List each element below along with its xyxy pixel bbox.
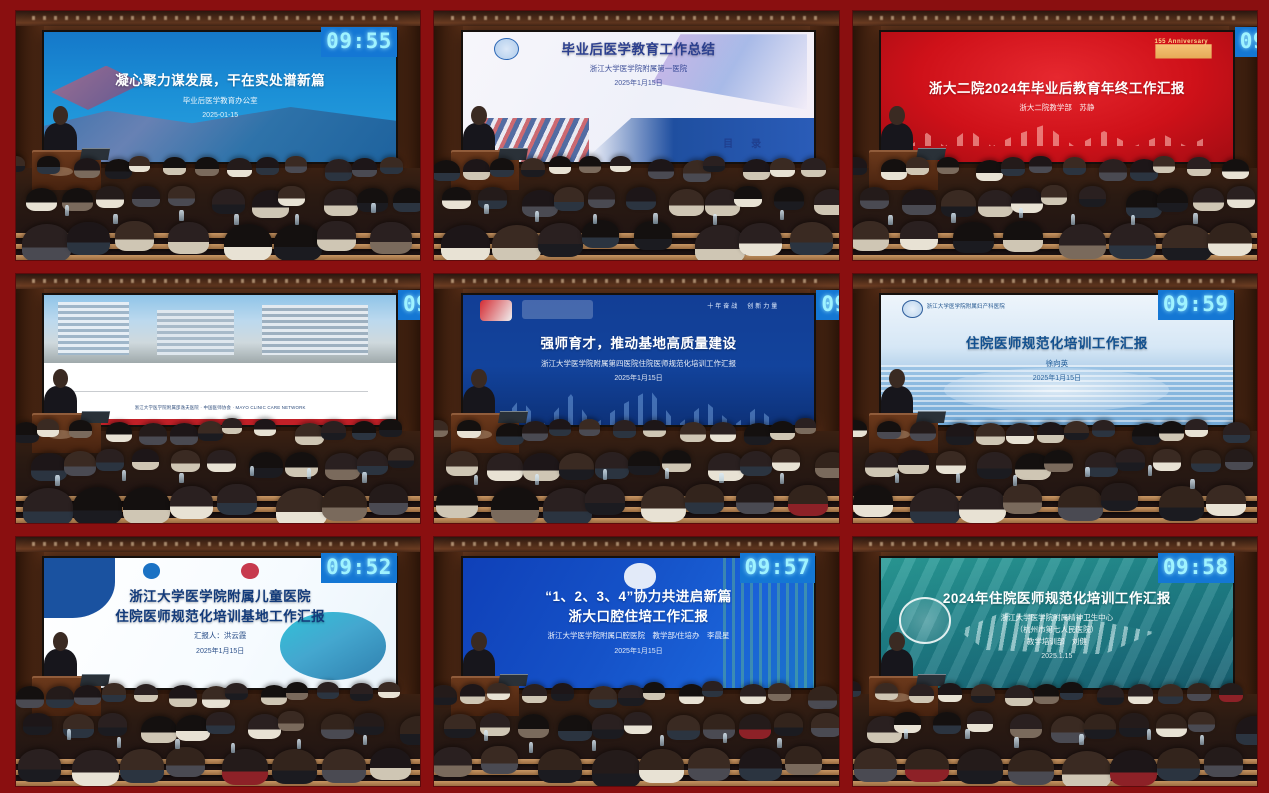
slide-anniversary-text: 155 Anniversary — [1155, 39, 1209, 45]
audience-member — [321, 421, 346, 440]
audience-member — [46, 686, 74, 708]
water-bottle — [719, 473, 723, 483]
audience-member — [436, 485, 478, 518]
water-bottle — [231, 743, 235, 753]
audience-member — [558, 715, 592, 741]
audience-member — [1011, 188, 1043, 213]
audience-member — [69, 420, 92, 438]
audience-member — [680, 422, 707, 442]
audience-member — [1008, 750, 1054, 786]
audience-member — [37, 419, 59, 436]
water-bottle — [1131, 215, 1135, 225]
audience-member — [909, 684, 934, 703]
audience-member — [941, 190, 977, 217]
audience-member — [460, 684, 485, 703]
audience-member — [1158, 684, 1183, 703]
audience-member — [1159, 421, 1184, 441]
audience-member — [378, 682, 399, 698]
audience-member — [380, 157, 403, 175]
water-bottle — [175, 739, 179, 749]
audience-member — [357, 451, 389, 475]
timestamp-badge: 09 — [816, 290, 839, 320]
audience-member — [225, 683, 248, 701]
audience-member — [1079, 186, 1106, 207]
audience-member — [634, 221, 672, 250]
audience-member — [434, 420, 447, 437]
audience-member — [457, 420, 480, 438]
audience-member — [37, 156, 60, 173]
audience-member — [317, 682, 339, 699]
audience-member — [898, 450, 928, 473]
water-bottle — [956, 473, 960, 483]
water-bottle — [603, 469, 607, 479]
audience-member — [937, 157, 960, 174]
audience-member — [1003, 484, 1042, 514]
audience-member — [217, 484, 257, 515]
audience-member — [1187, 157, 1211, 175]
audience-member — [1185, 419, 1208, 436]
audience-member — [1227, 186, 1255, 208]
audience-member — [549, 419, 571, 436]
audience-member — [768, 683, 791, 701]
audience-member — [695, 225, 746, 260]
audience-member — [1003, 221, 1043, 252]
audience-member — [434, 685, 456, 705]
audience-member — [1059, 224, 1105, 260]
water-bottle — [113, 214, 117, 224]
water-bottle — [593, 214, 597, 224]
audience-member — [708, 453, 744, 481]
audience-member — [933, 712, 961, 734]
water-bottle — [777, 738, 781, 748]
audience-member — [902, 189, 936, 215]
audience-member — [977, 452, 1012, 479]
audience-member — [1206, 485, 1246, 516]
audience-member — [770, 158, 795, 177]
slide-title: 毕业后医学教育工作总结 — [562, 42, 716, 58]
audience-member — [688, 748, 730, 780]
audience-member — [23, 713, 52, 735]
water-bottle — [484, 730, 488, 740]
slide-subtitle-2: （杭州市第七人民医院） — [1016, 625, 1099, 635]
audience-member — [710, 422, 736, 442]
audience-member — [272, 749, 317, 783]
audience-member — [815, 452, 838, 478]
audience-member — [628, 451, 660, 475]
water-bottle — [250, 466, 254, 476]
water-bottle — [535, 474, 539, 484]
timestamp-badge: 09 — [1235, 27, 1258, 57]
audience-member — [446, 451, 479, 476]
audience-member — [976, 160, 1004, 182]
water-bottle — [179, 473, 183, 483]
audience-member — [788, 485, 828, 516]
audience-member — [957, 749, 1002, 784]
water-bottle — [592, 740, 596, 750]
video-feed-tile[interactable]: 毕业后医学教育工作总结浙江大学医学院附属第一医院2025年1月15日目 录 — [433, 10, 839, 261]
audience-member — [669, 189, 704, 216]
audience-member — [774, 713, 804, 736]
audience-member — [169, 685, 196, 706]
audience-member — [1064, 421, 1089, 440]
audience-member — [487, 453, 523, 481]
audience-member — [1058, 486, 1103, 521]
audience-member — [496, 423, 525, 445]
audience-member — [1191, 450, 1221, 473]
projection-slide: 2024年住院医师规范化培训工作汇报郑雪咏浙江大学医学院附属邵逸夫医院 · 中国… — [44, 295, 396, 425]
audience-member — [877, 421, 901, 440]
audience-member — [1062, 751, 1112, 786]
water-bottle — [234, 214, 238, 224]
audience-member — [278, 186, 305, 207]
audience-member — [16, 686, 44, 708]
audience-member — [739, 748, 782, 781]
slide-date: 2025年1月15日 — [1033, 374, 1081, 384]
projection-slide: 浙大二院2024年毕业后教育年终工作汇报浙大二院教学部 苏静155 Annive… — [881, 32, 1233, 162]
water-bottle — [474, 475, 478, 485]
audience-member — [585, 484, 625, 515]
audience-member — [618, 685, 645, 706]
audience-member — [322, 749, 366, 783]
audience-member — [521, 158, 545, 177]
desk-row — [853, 781, 1257, 786]
slide-subtitle: 徐向英 — [1046, 359, 1069, 369]
audience-member — [785, 746, 822, 775]
audience-member — [967, 711, 993, 731]
slide-title-line2: 浙大口腔住培工作汇报 — [569, 609, 709, 625]
audience-member — [434, 747, 472, 777]
water-bottle — [529, 742, 533, 752]
water-bottle — [55, 475, 59, 485]
audience-member — [685, 484, 724, 514]
audience-member — [115, 221, 154, 251]
audience-member — [1188, 712, 1215, 733]
podium-laptop — [498, 411, 528, 423]
audience-member — [538, 749, 582, 783]
audience-member — [734, 186, 762, 207]
audience-member — [481, 746, 517, 774]
slide-partner-logos: 浙江大学医学院附属邵逸夫医院 · 中国医师协会 · MAYO CLINIC CA… — [72, 405, 368, 411]
projection-screen: 毕业后医学教育工作总结浙江大学医学院附属第一医院2025年1月15日目 录 — [461, 30, 817, 164]
slide-title: “1、2、3、4”协力共进启新篇 — [545, 589, 732, 605]
audience-member — [276, 488, 327, 523]
audience-member — [523, 453, 559, 481]
audience-member — [317, 221, 355, 251]
water-bottle — [1079, 734, 1083, 744]
slide-date: 2025-01-15 — [202, 111, 238, 121]
audience-member — [207, 450, 236, 472]
audience-member — [702, 681, 723, 697]
audience-member — [222, 749, 268, 784]
audience-member — [579, 156, 601, 173]
audience-member — [910, 488, 960, 523]
audience-member — [370, 222, 412, 254]
projection-screen: 2024年住院医师规范化培训工作汇报郑雪咏浙江大学医学院附属邵逸夫医院 · 中国… — [42, 293, 398, 427]
water-bottle — [713, 214, 717, 224]
audience-member — [324, 189, 358, 216]
audience-member — [744, 423, 772, 445]
audience-member — [743, 159, 770, 180]
water-bottle — [307, 468, 311, 478]
audience-member — [1005, 685, 1032, 706]
audience-member — [1097, 685, 1123, 705]
audience-member — [679, 684, 705, 704]
audience-member — [1156, 714, 1187, 738]
audience-member — [222, 418, 243, 434]
audience-member — [350, 683, 373, 701]
audience-member — [1128, 684, 1153, 704]
audience-member — [369, 484, 408, 514]
audience-member — [132, 449, 159, 470]
audience-member — [98, 713, 128, 736]
audience-member — [120, 749, 164, 783]
audience-member — [639, 749, 683, 783]
audience-member — [667, 715, 700, 741]
slide-date: 2025年1月15日 — [196, 647, 244, 657]
audience-member — [444, 714, 476, 738]
audience-member — [141, 716, 177, 744]
auditorium-scene: 毕业后医学教育工作总结浙江大学医学院附属第一医院2025年1月15日目 录 — [434, 11, 838, 260]
audience-member — [224, 224, 272, 260]
water-bottle — [65, 205, 69, 215]
audience-member — [875, 683, 898, 700]
audience-member — [170, 423, 198, 445]
audience-member — [434, 160, 459, 181]
audience-member — [18, 749, 61, 782]
audience-member — [72, 750, 119, 786]
slide-slogan: 十年奋战 创新力量 — [707, 301, 779, 310]
audience-member — [388, 448, 414, 468]
audience-member — [1153, 449, 1181, 471]
audience-member — [740, 451, 772, 476]
audience-member — [370, 748, 411, 780]
audience-member — [1219, 683, 1243, 702]
audience-member — [285, 156, 306, 173]
audience-member — [206, 712, 234, 734]
audience-member — [1116, 449, 1144, 471]
audience-member — [256, 157, 279, 175]
audience-member — [379, 419, 401, 436]
audience-member — [579, 419, 600, 436]
audience-member — [522, 684, 547, 703]
audience-member — [703, 156, 724, 172]
water-bottle — [371, 203, 375, 213]
video-feed-tile[interactable]: 浙江大学医学院附属儿童医院住院医师规范化培训基地工作汇报汇报人：洪云霞2025年… — [15, 536, 421, 787]
water-bottle — [665, 468, 669, 478]
audience-member — [170, 486, 214, 519]
audience-member — [354, 713, 383, 736]
audience-member — [1044, 450, 1073, 472]
water-bottle — [904, 729, 908, 739]
audience-member — [352, 158, 377, 177]
audience-member — [123, 487, 171, 523]
video-feed-tile[interactable]: 2024年住院医师规范化培训工作汇报浙江大学医学院附属精神卫生中心（杭州市第七人… — [852, 536, 1258, 787]
audience-member — [554, 187, 585, 211]
audience-member — [814, 189, 838, 215]
audience-member — [518, 714, 550, 738]
auditorium-scene: 强师育才，推动基地高质量建设浙江大学医学院附属第四医院住院医师规范化培训工作汇报… — [434, 274, 838, 523]
slide-date: 2025.1.15 — [1041, 652, 1072, 662]
timestamp-badge: 09:58 — [1158, 553, 1234, 583]
water-bottle — [660, 735, 664, 745]
audience-member — [959, 487, 1006, 523]
audience-member — [1034, 684, 1059, 703]
slide-subtitle-3: 教学培训部 刘健 — [1027, 637, 1087, 647]
slide-date: 2025年1月15日 — [614, 79, 662, 89]
audience-member — [249, 452, 283, 478]
projection-slide: 强师育才，推动基地高质量建设浙江大学医学院附属第四医院住院医师规范化培训工作汇报… — [463, 295, 815, 425]
audience-member — [1157, 748, 1199, 781]
audience-member — [906, 157, 929, 175]
timestamp-badge: 09:52 — [321, 553, 397, 583]
water-bottle — [535, 211, 539, 221]
audience-member — [538, 223, 582, 257]
audience-member — [491, 487, 539, 523]
audience-member — [16, 422, 39, 443]
video-feed-tile[interactable]: 浙大二院2024年毕业后教育年终工作汇报浙大二院教学部 苏静155 Annive… — [852, 10, 1258, 261]
audience-member — [166, 747, 205, 777]
audience-member — [1029, 156, 1051, 173]
video-feed-tile[interactable]: 强师育才，推动基地高质量建设浙江大学医学院附属第四医院住院医师规范化培训工作汇报… — [433, 273, 839, 524]
video-feed-tile[interactable]: “1、2、3、4”协力共进启新篇浙大口腔住培工作汇报浙江大学医学院附属口腔医院 … — [433, 536, 839, 787]
audience-member — [1063, 157, 1086, 175]
audience-member — [900, 221, 938, 250]
video-feed-tile[interactable]: 住院医师规范化培训工作汇报徐向英2025年1月15日浙江大学医学院附属妇产科医院… — [852, 273, 1258, 524]
water-bottle — [122, 470, 126, 480]
slide-org-name: 浙江大学医学院附属妇产科医院 — [927, 302, 1005, 310]
audience-member — [274, 224, 322, 260]
water-bottle — [1019, 208, 1023, 218]
audience-member — [772, 449, 800, 471]
audience-member — [325, 159, 352, 180]
water-bottle — [295, 214, 299, 224]
audience-member — [106, 422, 133, 442]
audience-member — [171, 450, 201, 473]
video-feed-tile[interactable]: 凝心聚力谋发展，干在实处谱新篇毕业后医学教育办公室2025-01-1509:55 — [15, 10, 421, 261]
audience-member — [894, 712, 921, 733]
audience-member — [286, 682, 308, 699]
water-bottle — [67, 729, 71, 739]
audience-member — [551, 683, 574, 701]
audience-member — [139, 423, 167, 445]
audience-member — [739, 714, 771, 739]
audience-member — [492, 225, 541, 260]
water-bottle — [895, 473, 899, 483]
audience-member — [74, 685, 100, 705]
water-bottle — [723, 733, 727, 743]
slide-subtitle: 汇报人：洪云霞 — [194, 631, 247, 641]
audience-member — [592, 714, 624, 739]
slide-title: 浙大二院2024年毕业后教育年终工作汇报 — [929, 81, 1185, 97]
water-bottle — [1147, 729, 1151, 739]
audience-member — [613, 420, 636, 438]
audience-member — [549, 156, 571, 173]
audience-member — [96, 186, 124, 208]
water-bottle — [965, 729, 969, 739]
audience-member — [212, 189, 245, 214]
auditorium-scene: 浙大二院2024年毕业后教育年终工作汇报浙大二院教学部 苏静155 Annive… — [853, 11, 1257, 260]
audience-member — [854, 748, 897, 781]
audience-member — [626, 187, 656, 210]
audience-member — [1208, 223, 1251, 256]
audience-member — [67, 222, 109, 255]
audience-member — [248, 714, 281, 739]
audience-member — [278, 711, 304, 731]
slide-subtitle: 浙大二院教学部 苏静 — [1019, 103, 1094, 113]
slide-date: 2025年1月15日 — [614, 374, 662, 384]
audience-member — [254, 419, 276, 436]
audience-member — [881, 159, 908, 180]
audience-member — [522, 421, 547, 441]
water-bottle — [888, 215, 892, 225]
audience-member — [936, 451, 967, 475]
water-bottle — [117, 737, 121, 747]
projection-screen: 浙大二院2024年毕业后教育年终工作汇报浙大二院教学部 苏静155 Annive… — [879, 30, 1235, 164]
audience-member — [195, 157, 219, 175]
audience-member — [860, 187, 889, 209]
audience-member — [325, 453, 361, 480]
audience-member — [1223, 422, 1250, 443]
water-bottle — [1190, 479, 1194, 489]
audience-member — [938, 683, 962, 701]
slide-title: 2024年住院医师规范化培训工作汇报 — [943, 591, 1171, 607]
audience-member — [1162, 225, 1211, 260]
slide-subtitle: 浙江大学医学院附属第一医院 — [590, 64, 688, 74]
projection-slide: 毕业后医学教育工作总结浙江大学医学院附属第一医院2025年1月15日目 录 — [463, 32, 815, 162]
slide-title: 强师育才，推动基地高质量建设 — [541, 336, 737, 352]
audience-member — [129, 156, 150, 172]
audience-member — [168, 222, 209, 254]
water-bottle — [362, 472, 366, 482]
audience-member — [322, 486, 367, 521]
water-bottle — [1200, 735, 1204, 745]
audience-member — [198, 421, 223, 441]
slide-toc-label: 目 录 — [723, 135, 765, 150]
audience-member — [1119, 713, 1149, 736]
audience-member — [1084, 714, 1116, 739]
audience-member — [1060, 682, 1082, 699]
timestamp-badge: 09:57 — [740, 553, 816, 583]
timestamp-badge: 09:59 — [1158, 290, 1234, 320]
water-bottle — [363, 735, 367, 745]
video-feed-tile[interactable]: 2024年住院医师规范化培训工作汇报郑雪咏浙江大学医学院附属邵逸夫医院 · 中国… — [15, 273, 421, 524]
water-bottle — [1013, 475, 1017, 485]
water-bottle — [653, 213, 657, 223]
slide-subtitle: 浙江大学医学院附属口腔医院 教学部/住培办 李晨星 — [547, 631, 729, 641]
audience-member — [522, 190, 558, 217]
audience-member — [1006, 423, 1034, 444]
audience-member — [134, 684, 158, 703]
audience-member — [774, 187, 804, 210]
audience-member — [1204, 747, 1243, 777]
video-wall-grid: 凝心聚力谋发展，干在实处谱新篇毕业后医学教育办公室2025-01-1509:55… — [0, 0, 1269, 793]
audience-member — [953, 222, 993, 253]
audience-member — [1236, 716, 1257, 744]
audience-member — [1099, 159, 1126, 180]
slide-subtitle: 毕业后医学教育办公室 — [183, 96, 258, 106]
audience-member — [582, 220, 618, 248]
audience-member — [176, 715, 210, 741]
slide-title: 住院医师规范化培训工作汇报 — [966, 336, 1148, 352]
audience-member — [1041, 185, 1067, 205]
water-bottle — [1085, 467, 1089, 477]
audience-member — [73, 487, 122, 523]
audience-member — [1001, 157, 1025, 176]
audience-member — [905, 749, 949, 783]
audience-member — [595, 452, 629, 479]
desk-row — [16, 255, 420, 260]
water-bottle — [1193, 213, 1197, 223]
